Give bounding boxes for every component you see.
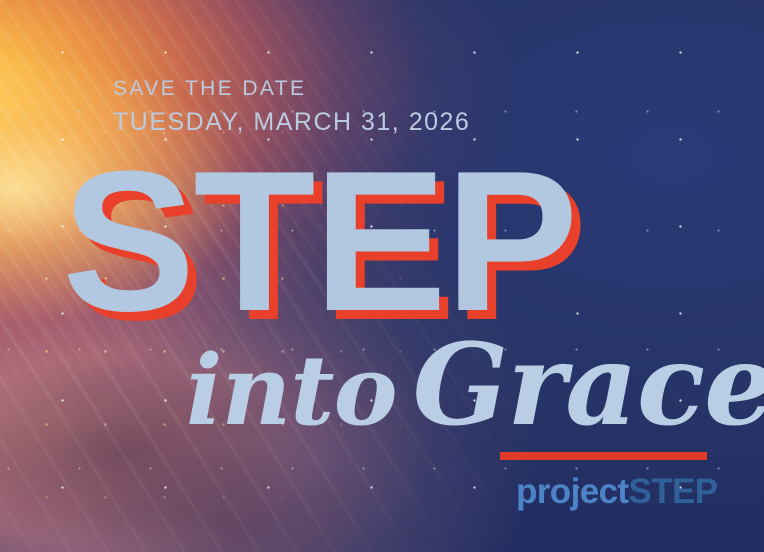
script-word-grace: Grace: [413, 320, 764, 451]
headline-face: STEP: [62, 152, 576, 332]
logo-word-step: STEP: [629, 472, 718, 511]
announcement-block: SAVE THE DATE TUESDAY, MARCH 31, 2026: [113, 78, 470, 135]
script-word-into: into: [186, 334, 397, 447]
red-underline-rule: [500, 452, 707, 460]
project-step-logo: projectSTEP: [516, 472, 718, 512]
script-tagline: intoGrace: [186, 326, 764, 451]
poster-content: SAVE THE DATE TUESDAY, MARCH 31, 2026 ST…: [0, 0, 764, 552]
headline-wordmark: STEP STEP: [62, 152, 582, 332]
save-the-date-poster: SAVE THE DATE TUESDAY, MARCH 31, 2026 ST…: [0, 0, 764, 552]
save-the-date-label: SAVE THE DATE: [113, 78, 470, 99]
logo-word-project: project: [516, 472, 629, 511]
